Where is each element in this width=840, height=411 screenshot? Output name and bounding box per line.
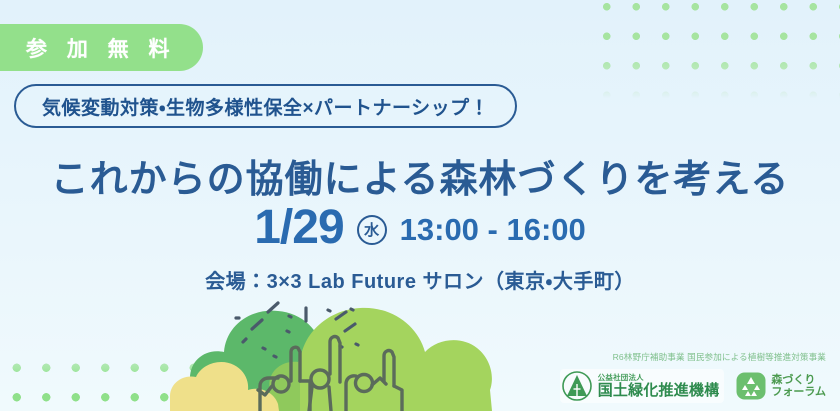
logo-morizukuri-line2: フォーラム xyxy=(771,386,826,398)
event-date: 1/29 xyxy=(254,204,343,252)
logo-kokudo-subtitle: 公益社団法人 xyxy=(598,374,720,381)
theme-pill: 気候変動対策・生物多様性保全×パートナーシップ！ xyxy=(14,84,517,128)
subsidy-program-text: R6林野庁補助事業 国民参加による植樹等推進対策事業 xyxy=(613,351,826,363)
forest-forum-emblem-icon xyxy=(736,372,766,400)
day-of-week-badge: 水 xyxy=(357,215,387,245)
credits-block: R6林野庁補助事業 国民参加による植樹等推進対策事業 公益社団法人 国土緑化推進… xyxy=(558,351,826,403)
logo-morizukuri-forum: 森づくり フォーラム xyxy=(736,372,826,400)
theme-pill-label: 気候変動対策・生物多様性保全×パートナーシップ！ xyxy=(42,93,489,120)
event-date-row: 1/29 水 13:00 - 16:00 xyxy=(0,204,840,252)
event-time: 13:00 - 16:00 xyxy=(400,212,586,248)
logo-morizukuri-line1: 森づくり xyxy=(771,374,826,386)
logo-kokudo-title: 国土緑化推進機構 xyxy=(598,383,720,398)
event-banner: 参 加 無 料 気候変動対策・生物多様性保全×パートナーシップ！ これからの協働… xyxy=(0,0,840,411)
tree-emblem-icon xyxy=(562,371,592,401)
sponsor-logo-row: 公益社団法人 国土緑化推進機構 森づくり フォーラム xyxy=(560,369,826,403)
event-venue: 会場：3×3 Lab Future サロン（東京・大手町） xyxy=(0,265,840,294)
logo-kokudo-ryokka: 公益社団法人 国土緑化推進機構 xyxy=(560,369,725,403)
free-admission-badge: 参 加 無 料 xyxy=(0,24,203,71)
event-headline: これからの協働による森林づくりを考える xyxy=(0,148,840,203)
free-admission-label: 参 加 無 料 xyxy=(26,33,177,63)
dot-grid-top-right-decoration xyxy=(586,0,840,98)
